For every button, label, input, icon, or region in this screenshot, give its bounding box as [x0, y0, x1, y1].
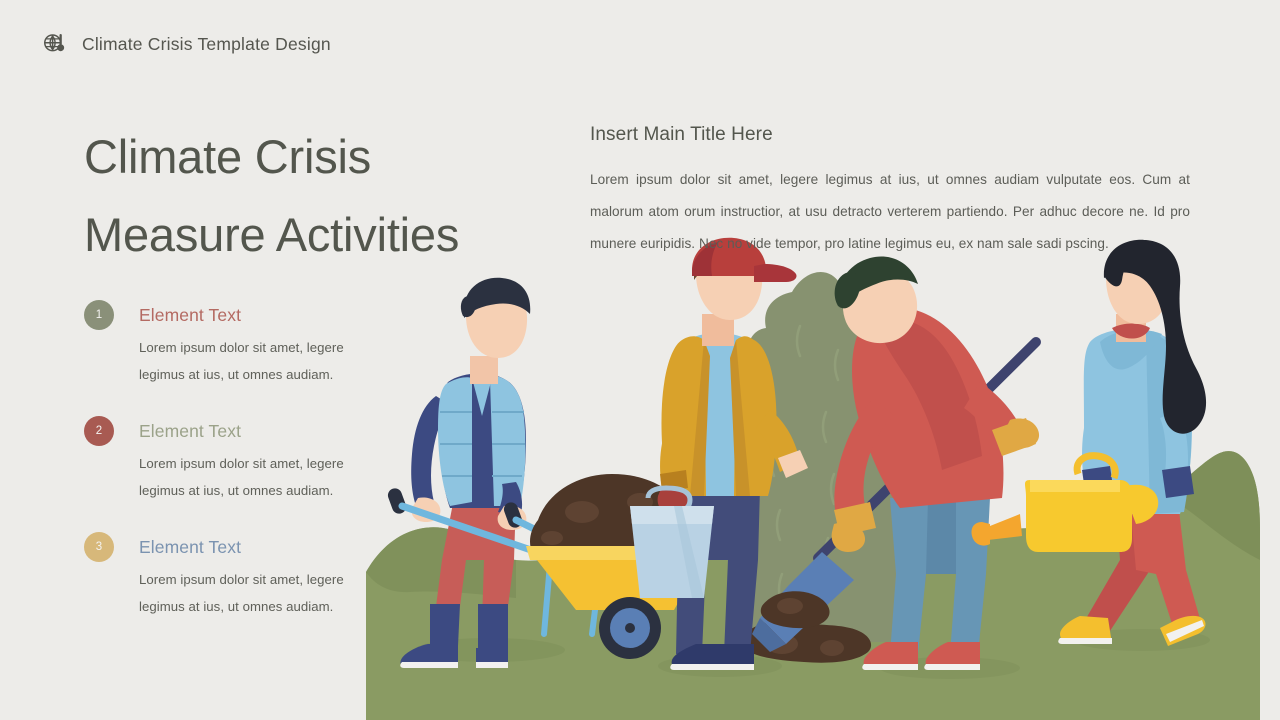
element-body: Lorem ipsum dolor sit amet, legere legim…: [139, 566, 384, 620]
header-title: Climate Crisis Template Design: [82, 34, 331, 55]
list-item[interactable]: 3 Element Text Lorem ipsum dolor sit ame…: [84, 532, 554, 620]
element-number-badge: 1: [84, 300, 114, 330]
element-number-badge: 3: [84, 532, 114, 562]
element-heading: Element Text: [139, 416, 554, 446]
section-title: Insert Main Title Here: [590, 124, 1190, 146]
element-body: Lorem ipsum dolor sit amet, legere legim…: [139, 450, 384, 504]
element-body: Lorem ipsum dolor sit amet, legere legim…: [139, 334, 384, 388]
element-heading: Element Text: [139, 300, 554, 330]
element-number-badge: 2: [84, 416, 114, 446]
element-heading: Element Text: [139, 532, 554, 562]
slide-header: Climate Crisis Template Design: [0, 0, 1280, 88]
list-item[interactable]: 1 Element Text Lorem ipsum dolor sit ame…: [84, 300, 554, 388]
globe-climate-icon: [42, 31, 68, 57]
page-title: Climate Crisis Measure Activities: [84, 118, 554, 274]
right-content-column: Insert Main Title Here Lorem ipsum dolor…: [590, 124, 1190, 260]
element-list: 1 Element Text Lorem ipsum dolor sit ame…: [84, 300, 554, 620]
list-item[interactable]: 2 Element Text Lorem ipsum dolor sit ame…: [84, 416, 554, 504]
left-content-column: Climate Crisis Measure Activities 1 Elem…: [84, 118, 554, 648]
section-body: Lorem ipsum dolor sit amet, legere legim…: [590, 164, 1190, 260]
slide-root: Climate Crisis Template Design: [0, 0, 1280, 720]
